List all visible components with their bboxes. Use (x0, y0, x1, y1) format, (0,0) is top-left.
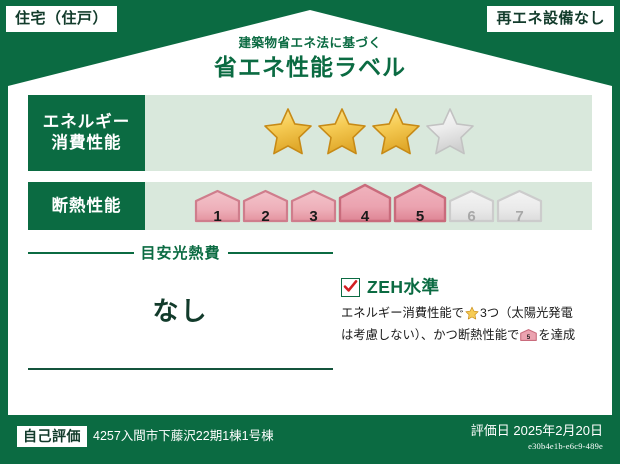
star-icon-filled-1 (262, 105, 314, 162)
star-icon-inline (465, 306, 479, 326)
zeh-desc-part1: エネルギー消費性能で (341, 306, 464, 320)
zeh-desc-star-count: 3つ（太陽光発電 (480, 306, 573, 320)
star-icon-filled-2 (316, 105, 368, 162)
zeh-desc-part3: を達成 (538, 328, 575, 342)
svg-text:5: 5 (527, 334, 531, 341)
house-icon-level-5: 5 (393, 183, 447, 228)
checkbox-checked-icon[interactable] (341, 278, 360, 297)
badge-renewable-equipment: 再エネ設備なし (487, 6, 614, 32)
house-level-number-2: 2 (242, 209, 289, 224)
utility-cost-heading: 目安光熱費 (141, 242, 221, 263)
badge-dwelling-type: 住宅（住戸） (6, 6, 117, 32)
house-level-number-1: 1 (194, 209, 241, 224)
footer-left-group: 自己評価 4257入間市下藤沢22期1棟1号棟 (17, 426, 274, 447)
house-icon-level-3: 3 (290, 189, 337, 228)
self-evaluation-badge: 自己評価 (17, 426, 87, 447)
cost-rule-left (28, 252, 134, 254)
cost-rule-right (228, 252, 334, 254)
cost-bottom-divider (28, 368, 333, 370)
utility-cost-value: なし (28, 291, 333, 328)
house-level-number-4: 4 (338, 209, 392, 224)
house-level-number-5: 5 (393, 209, 447, 224)
house-icon-inline: 5 (520, 328, 537, 348)
house-level-number-7: 7 (496, 209, 543, 224)
energy-label-line1: エネルギー (43, 112, 131, 133)
house-icon-level-2: 2 (242, 189, 289, 228)
zeh-section: ZEH水準 エネルギー消費性能で 3つ（太陽光発電 は考慮しない）、かつ断熱性能… (341, 278, 593, 348)
house-icon-level-4: 4 (338, 183, 392, 228)
label-card: エネルギー 消費性能 (19, 86, 601, 408)
house-icon-level-7: 7 (496, 189, 543, 228)
house-icon-level-6: 6 (448, 189, 495, 228)
insulation-performance-label: 断熱性能 (28, 182, 145, 230)
house-level-number-6: 6 (448, 209, 495, 224)
star-icon-filled-3 (370, 105, 422, 162)
building-name: 4257入間市下藤沢22期1棟1号棟 (93, 430, 274, 443)
label-footer: 自己評価 4257入間市下藤沢22期1棟1号棟 評価日 2025年2月20日 e… (0, 415, 620, 464)
house-icon-level-1: 1 (194, 189, 241, 228)
energy-performance-label: エネルギー 消費性能 (28, 95, 145, 171)
insulation-performance-value: 1 2 (145, 182, 592, 230)
zeh-heading-row: ZEH水準 (341, 278, 593, 297)
utility-cost-heading-row: 目安光熱費 (28, 242, 333, 263)
zeh-description: エネルギー消費性能で 3つ（太陽光発電 は考慮しない）、かつ断熱性能で 5 を達… (341, 304, 593, 348)
zeh-desc-part2: は考慮しない）、かつ断熱性能で (341, 328, 519, 342)
footer-right-group: 評価日 2025年2月20日 e30b4e1b-e6c9-489e (471, 424, 603, 451)
star-rating (262, 105, 476, 162)
insulation-level-scale: 1 2 (194, 183, 543, 230)
energy-performance-label: 住宅（住戸） 再エネ設備なし 建築物省エネ法に基づく 省エネ性能ラベル エネルギ… (0, 0, 620, 464)
utility-cost-section: 目安光熱費 なし (28, 242, 333, 370)
energy-performance-row: エネルギー 消費性能 (28, 95, 592, 171)
label-identifier: e30b4e1b-e6c9-489e (471, 441, 603, 451)
star-icon-empty-4 (424, 105, 476, 162)
house-level-number-3: 3 (290, 209, 337, 224)
evaluation-date: 評価日 2025年2月20日 (471, 424, 603, 438)
energy-label-line2: 消費性能 (52, 133, 122, 154)
zeh-title: ZEH水準 (367, 279, 440, 297)
insulation-performance-row: 断熱性能 (28, 182, 592, 230)
energy-performance-value (145, 95, 592, 171)
